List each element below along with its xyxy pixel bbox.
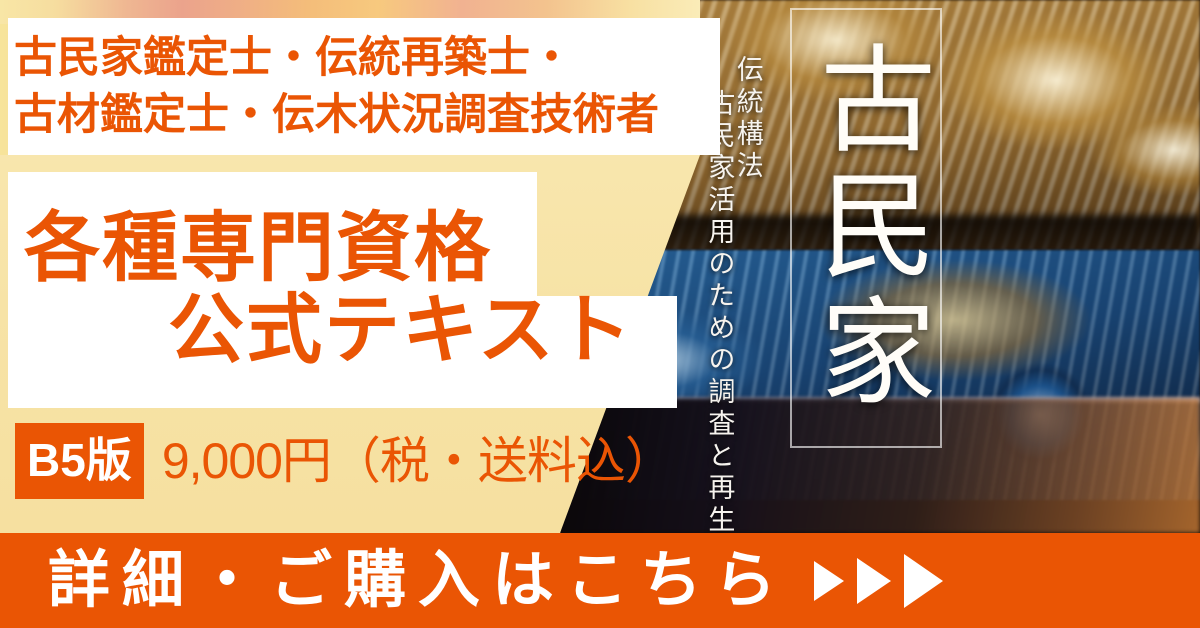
arrow-right-icon-2 — [857, 558, 891, 604]
title-line-2: 公式テキスト — [8, 290, 677, 372]
headline-line-1: 古民家鑑定士・伝統再築士・ — [14, 30, 720, 87]
price-row: B5版 9,000円（税・送料込） — [0, 420, 700, 502]
headline-line-2: 古材鑑定士・伝木状況調査技術者 — [14, 87, 720, 144]
cover-subtitle-top: 伝統構法 — [733, 55, 761, 533]
cta-arrows — [814, 554, 943, 608]
arrow-right-icon-1 — [814, 561, 844, 601]
cover-subtitle-main: 古民家活用のための調査と再生の — [705, 89, 733, 533]
price-amount: 9,000円（税・送料込） — [162, 436, 674, 486]
cover-title-text: 古民家 — [793, 10, 939, 446]
title-text: 各種専門資格 公式テキスト — [8, 172, 677, 408]
headline-text: 古民家鑑定士・伝統再築士・ 古材鑑定士・伝木状況調査技術者 — [14, 18, 720, 155]
promo-banner: 古民家 伝統構法 古民家活用のための調査と再生の 古民家鑑定士・伝統再築士・ 古… — [0, 0, 1200, 628]
format-badge: B5版 — [15, 423, 144, 499]
title-line-1: 各種専門資格 — [8, 208, 677, 290]
cta-bar[interactable]: 詳細・ご購入はこちら — [0, 533, 1200, 628]
arrow-right-icon-3 — [904, 554, 943, 608]
cta-label[interactable]: 詳細・ご購入はこちら — [48, 550, 788, 612]
